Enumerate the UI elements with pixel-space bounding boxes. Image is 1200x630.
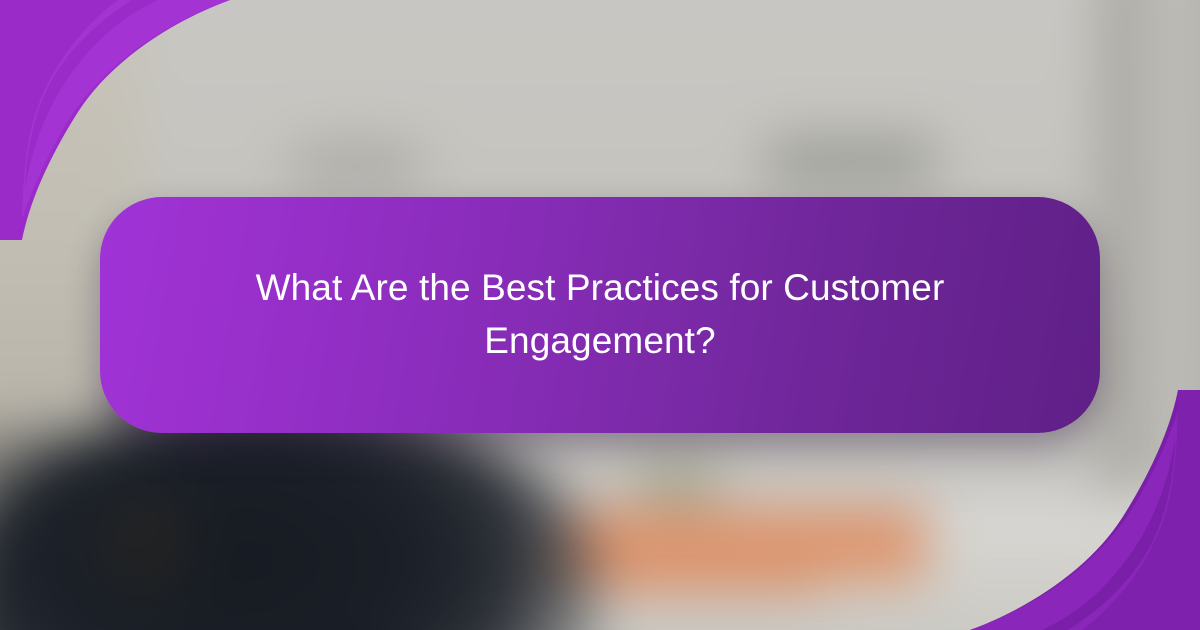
background-object-a xyxy=(767,140,934,184)
background-object-b xyxy=(294,147,419,184)
banner-canvas: What Are the Best Practices for Customer… xyxy=(0,0,1200,630)
background-desk-object-1 xyxy=(565,509,927,549)
background-person-head xyxy=(101,494,191,592)
background-plant xyxy=(628,461,725,505)
background-person xyxy=(0,403,600,630)
title-card: What Are the Best Practices for Customer… xyxy=(100,197,1100,433)
page-title: What Are the Best Practices for Customer… xyxy=(230,262,970,367)
background-desk-object-3 xyxy=(600,567,823,593)
